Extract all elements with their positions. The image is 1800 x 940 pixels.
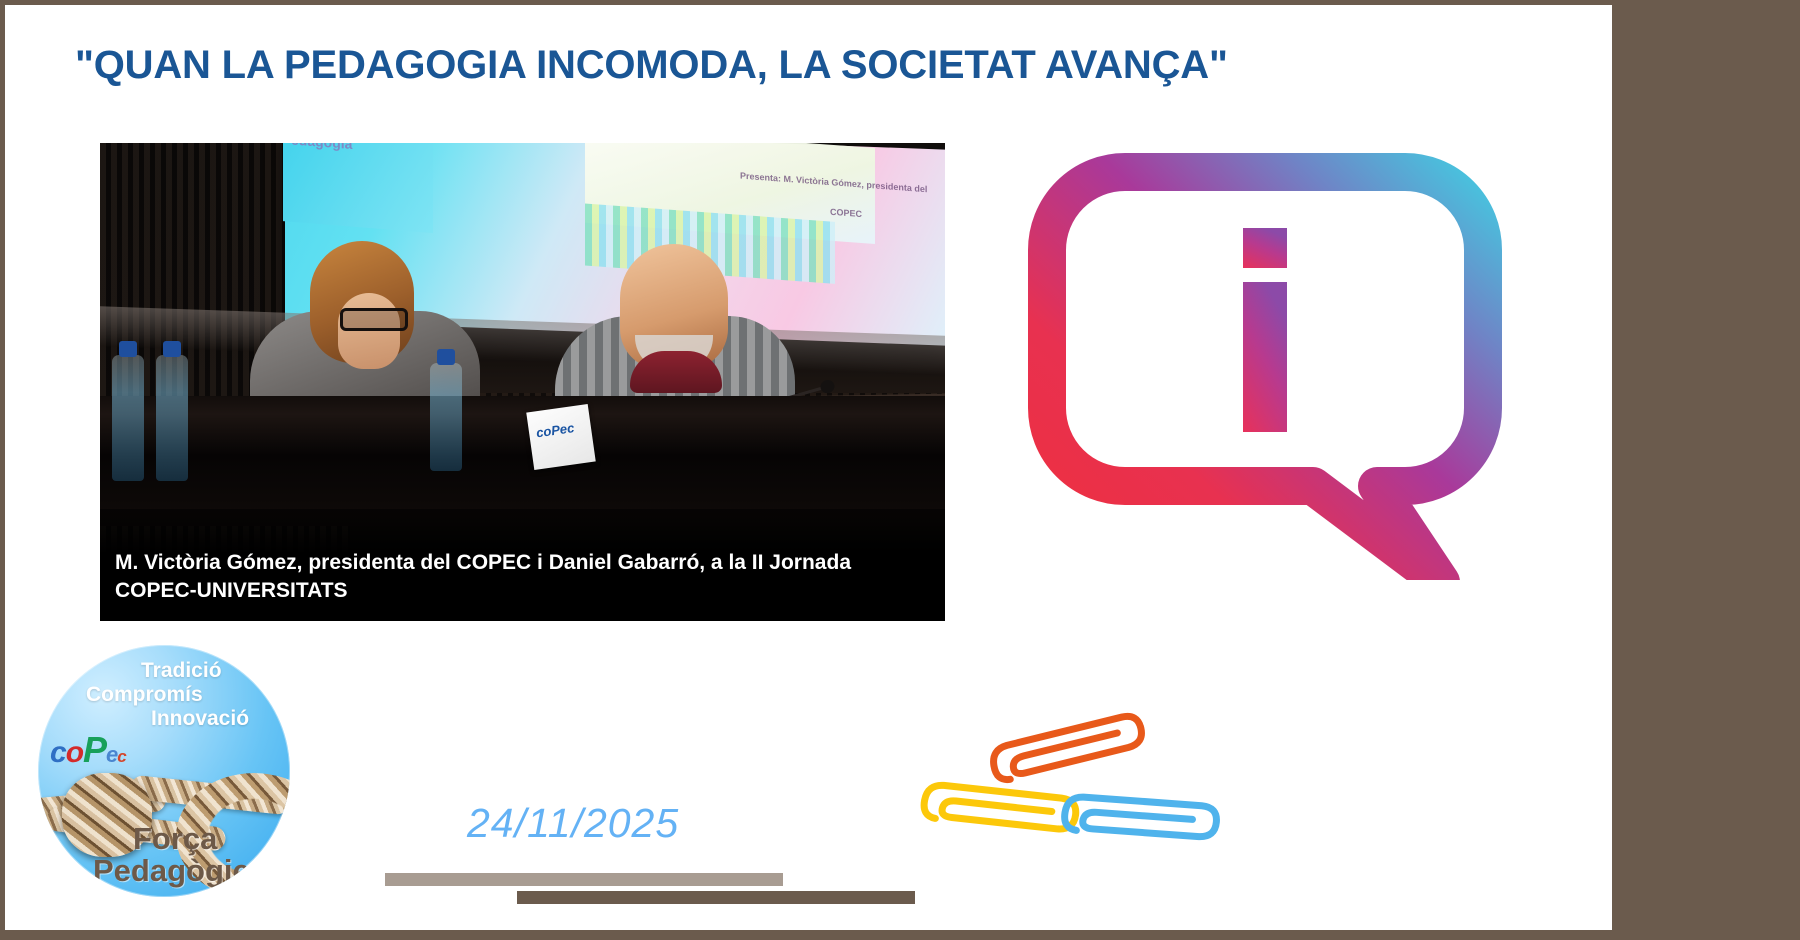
blue-paper-clip — [1063, 785, 1219, 852]
paper-clips-decoration — [895, 710, 1225, 890]
speaker-man-collar — [630, 351, 722, 393]
speaker-woman-face — [338, 293, 400, 369]
logo-line-compromis: Compromís — [86, 683, 203, 707]
slide-stage: "QUAN LA PEDAGOGIA INCOMODA, LA SOCIETAT… — [0, 0, 1800, 940]
wordmark-letter-c2: c — [117, 747, 125, 767]
booklet-label: coPec — [535, 420, 575, 440]
slide-canvas: "QUAN LA PEDAGOGIA INCOMODA, LA SOCIETAT… — [5, 5, 1612, 930]
decorative-bar-light — [385, 873, 783, 886]
speaker-woman-glasses — [340, 308, 408, 331]
logo-line-innovacio: Innovació — [151, 707, 249, 731]
yellow-paper-clip — [922, 772, 1079, 844]
slide-date: 24/11/2025 — [467, 800, 679, 847]
logo-slogan-pedagogica: Pedagògica — [93, 853, 267, 889]
conference-photo: edagogia Presenta: M. Victòria Gómez, pr… — [100, 143, 945, 621]
logo-line-tradicio: Tradició — [141, 659, 222, 683]
photo-caption: M. Victòria Gómez, presidenta del COPEC … — [115, 549, 915, 605]
page-title: "QUAN LA PEDAGOGIA INCOMODA, LA SOCIETAT… — [75, 43, 1555, 87]
water-bottle — [156, 355, 188, 481]
decorative-bar-dark — [517, 891, 915, 904]
photo-table — [100, 396, 945, 526]
copec-logo: Tradició Compromís Innovació coPec Força… — [38, 645, 290, 897]
info-i-dot — [1243, 228, 1287, 268]
projection-screen-left-panel — [283, 143, 433, 233]
logo-slogan-forca: Força — [133, 821, 217, 857]
copec-booklet: coPec — [526, 404, 595, 470]
info-i-stem — [1243, 282, 1287, 432]
water-bottle — [112, 355, 144, 481]
info-speech-bubble-icon — [1025, 150, 1505, 580]
orange-paper-clip — [990, 714, 1146, 781]
water-bottle — [430, 363, 462, 471]
